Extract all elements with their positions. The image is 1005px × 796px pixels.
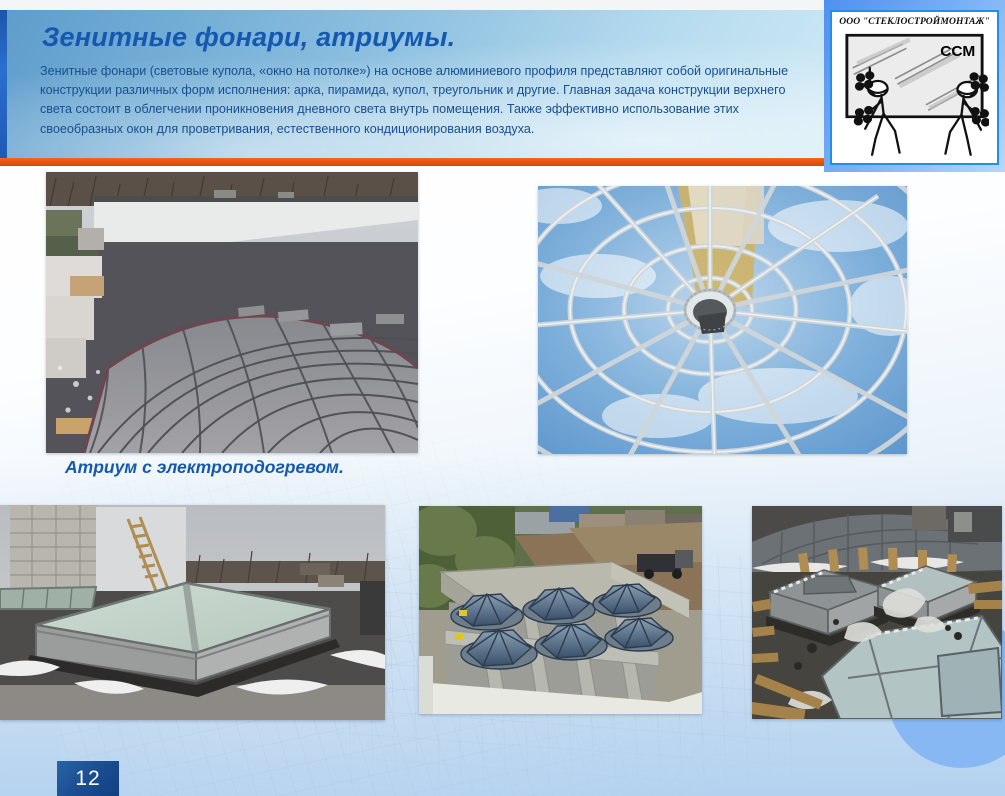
slide: Зенитные фонари, атриумы. Зенитные фонар… xyxy=(0,0,1005,796)
two-workers-carrying-glass-pane-icon: ССМ xyxy=(840,32,989,157)
svg-text:ССМ: ССМ xyxy=(940,43,975,60)
photo-barrel-vault-atrium-skylight xyxy=(46,172,418,453)
header-orange-divider xyxy=(0,158,824,166)
photo-multiple-pyramid-skylights xyxy=(752,506,1002,719)
atrium-caption: Атриум с электроподогревом. xyxy=(65,457,344,478)
slide-body-text: Зенитные фонари (световые купола, «окно … xyxy=(40,62,810,139)
photo-glass-dome-interior xyxy=(538,186,907,454)
page-title: Зенитные фонари, атриумы. xyxy=(42,22,455,53)
header-left-accent-bar xyxy=(0,10,7,158)
company-logo-panel: ООО "СТЕКЛОСТРОЙМОНТАЖ" xyxy=(824,0,1005,172)
photo-pyramid-skylight-snow xyxy=(0,505,385,720)
company-logo-box: ООО "СТЕКЛОСТРОЙМОНТАЖ" xyxy=(830,10,999,165)
photo-six-hexagonal-domes-roof xyxy=(419,506,702,714)
company-name-label: ООО "СТЕКЛОСТРОЙМОНТАЖ" xyxy=(832,16,997,27)
page-number-badge: 12 xyxy=(57,761,119,796)
slide-body-paragraph: Зенитные фонари (световые купола, «окно … xyxy=(40,62,810,139)
